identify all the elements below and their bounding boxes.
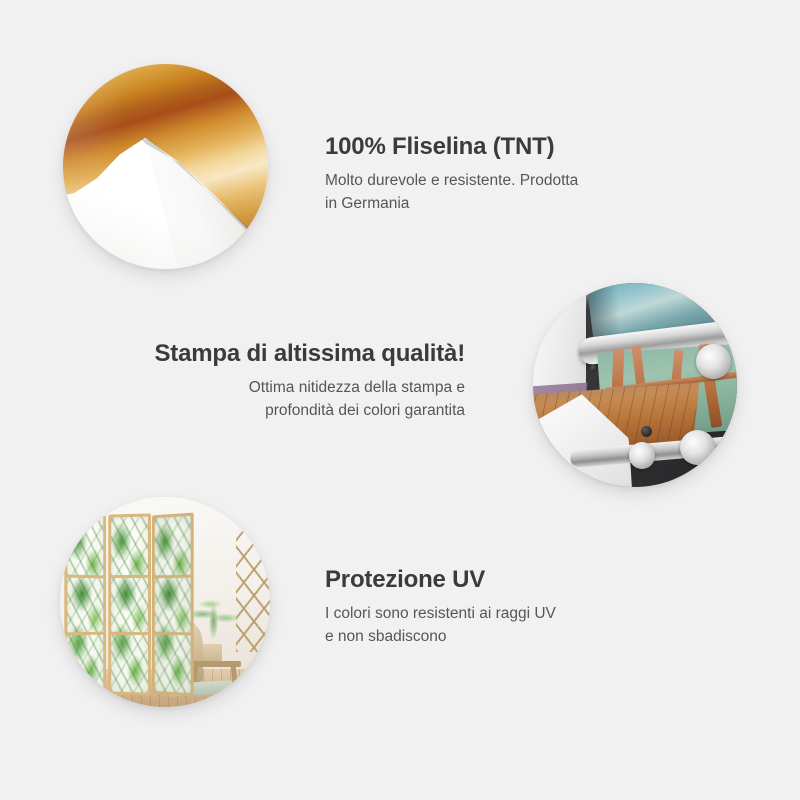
feature-body-uv-protection: I colori sono resistenti ai raggi UV e n… bbox=[325, 603, 675, 648]
feature-body-line-1: Ottima nitidezza della stampa e bbox=[249, 379, 465, 396]
feature-image-print-quality bbox=[533, 283, 737, 487]
printer-wheel bbox=[629, 442, 656, 469]
feature-body-line-2: e non sbadiscono bbox=[325, 628, 447, 645]
feature-heading-print-quality: Stampa di altissima qualità! bbox=[145, 340, 465, 368]
feature-heading-uv-protection: Protezione UV bbox=[325, 566, 675, 594]
printer-wheel bbox=[680, 430, 715, 465]
feature-text-print-quality: Stampa di altissima qualità! Ottima niti… bbox=[145, 340, 465, 422]
tropical-room-divider bbox=[64, 514, 194, 695]
feature-heading-material: 100% Fliselina (TNT) bbox=[325, 133, 675, 161]
printer-knob bbox=[590, 365, 597, 372]
feature-image-material bbox=[63, 64, 268, 269]
divider-panel bbox=[65, 512, 107, 695]
feature-text-material: 100% Fliselina (TNT) Molto durevole e re… bbox=[325, 133, 675, 215]
divider-panel bbox=[152, 512, 194, 695]
wall-trellis-decor bbox=[236, 531, 270, 653]
feature-image-uv-protection bbox=[60, 497, 270, 707]
feature-body-line-2: profondità dei colori garantita bbox=[265, 402, 465, 419]
tropical-room-divider-photo bbox=[60, 497, 270, 707]
feature-body-line-2: in Germania bbox=[325, 195, 409, 212]
divider-panel bbox=[108, 513, 151, 695]
printer-wheel bbox=[696, 344, 731, 379]
feature-body-line-1: Molto durevole e resistente. Prodotta bbox=[325, 172, 578, 189]
feature-text-uv-protection: Protezione UV I colori sono resistenti a… bbox=[325, 566, 675, 648]
feature-body-material: Molto durevole e resistente. Prodotta in… bbox=[325, 170, 675, 215]
large-format-printer-photo bbox=[533, 283, 737, 487]
feature-body-line-1: I colori sono resistenti ai raggi UV bbox=[325, 605, 556, 622]
feature-highlights-panel: 100% Fliselina (TNT) Molto durevole e re… bbox=[0, 0, 800, 800]
peeling-wallpaper-corner-photo bbox=[63, 64, 268, 269]
feature-body-print-quality: Ottima nitidezza della stampa e profondi… bbox=[145, 377, 465, 422]
